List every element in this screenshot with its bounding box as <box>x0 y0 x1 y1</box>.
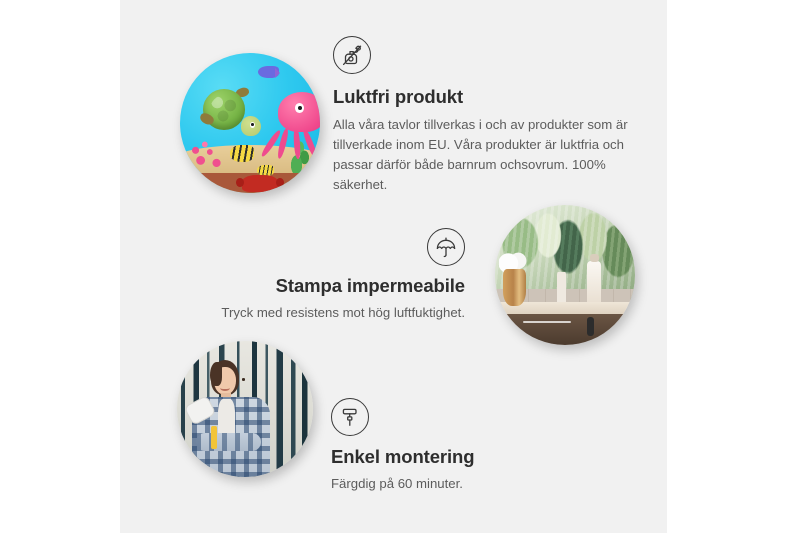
soap-dispenser <box>587 261 601 306</box>
woman-installer <box>191 360 275 477</box>
umbrella-icon <box>427 228 465 266</box>
vase <box>503 269 525 305</box>
feature-easy-mount-title: Enkel montering <box>331 446 591 468</box>
turtle-illustration <box>200 89 259 137</box>
underwater-scene <box>180 53 320 193</box>
soap-pump <box>557 272 567 303</box>
feature-odourless-body: Alla våra tavlor tillverkas i och av pro… <box>333 115 633 195</box>
octopus-illustration <box>264 92 320 156</box>
feature-odourless-title: Luktfri produkt <box>333 86 633 108</box>
photo-bathroom-botanical-mural <box>495 205 635 345</box>
product-feature-infographic: Luktfri produkt Alla våra tavlor tillver… <box>0 0 800 533</box>
feature-easy-mount: Enkel montering Färgdig på 60 minuter. <box>331 398 591 494</box>
feature-waterproof: Stampa impermeabile Tryck med resistens … <box>215 228 465 323</box>
blue-fish-icon <box>258 66 279 79</box>
crab-illustration <box>242 175 278 192</box>
forest-scene <box>177 341 313 477</box>
no-fragrance-icon <box>333 36 371 74</box>
coral <box>188 131 230 173</box>
bathroom-scene <box>495 205 635 345</box>
feature-easy-mount-body: Färgdig på 60 minuter. <box>331 474 591 494</box>
yellow-fish-icon <box>230 145 254 162</box>
wood-vanity <box>495 314 635 345</box>
hand-tool-prop <box>211 426 217 449</box>
feature-waterproof-title: Stampa impermeabile <box>215 275 465 297</box>
photo-underwater-kids-mural <box>180 53 320 193</box>
feature-odourless: Luktfri produkt Alla våra tavlor tillver… <box>333 36 633 195</box>
photo-installer-forest-mural <box>177 341 313 477</box>
paint-roller-icon <box>331 398 369 436</box>
feature-waterproof-body: Tryck med resistens mot hög luftfuktighe… <box>215 303 465 323</box>
